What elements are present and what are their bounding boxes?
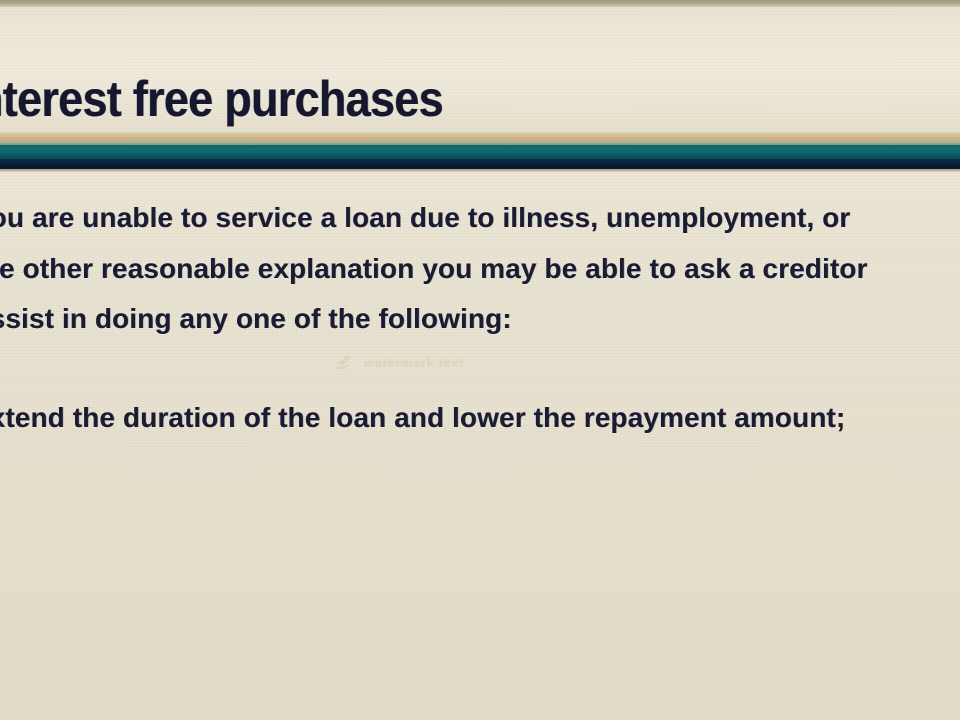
presentation-slide: nterest free purchases you are unable to…: [0, 0, 960, 720]
page-title: nterest free purchases: [0, 71, 885, 127]
slide-header: nterest free purchases: [0, 7, 960, 132]
divider-band-gold: [0, 132, 960, 142]
divider-band-navy: [0, 159, 960, 169]
body-line-2: me other reasonable explanation you may …: [0, 252, 960, 286]
slide-body: you are unable to service a loan due to …: [0, 172, 960, 720]
top-accent-strip: [0, 0, 960, 7]
body-line-1: you are unable to service a loan due to …: [0, 201, 960, 235]
body-line-3: assist in doing any one of the following…: [0, 302, 960, 336]
title-divider: [0, 132, 960, 172]
divider-band-teal: [0, 145, 960, 159]
body-line-4: extend the duration of the loan and lowe…: [0, 401, 960, 435]
